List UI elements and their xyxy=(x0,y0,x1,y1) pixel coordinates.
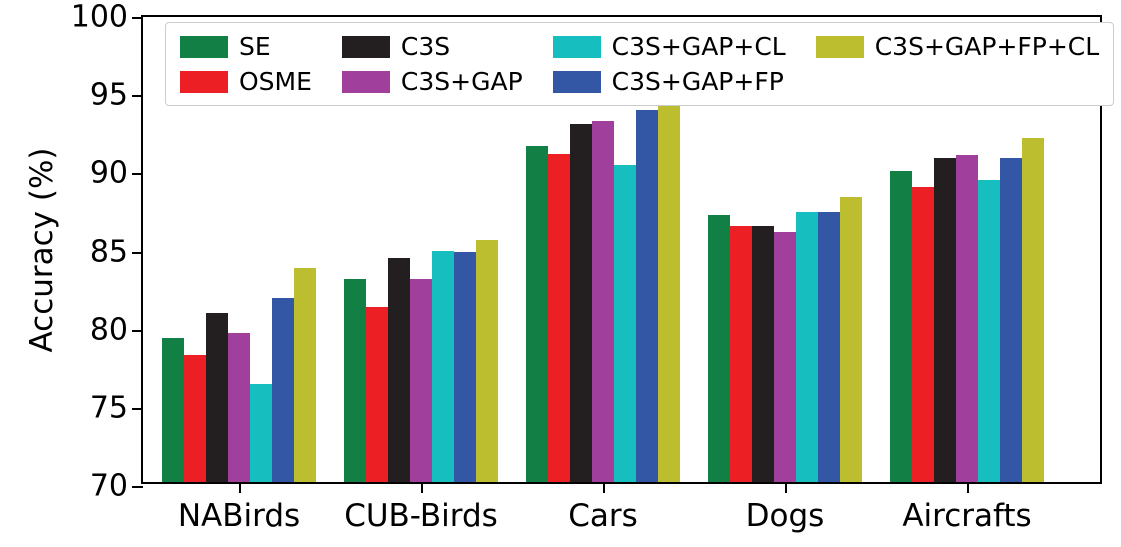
bar xyxy=(476,240,498,482)
x-axis-tick-label: Aircrafts xyxy=(902,498,1031,534)
legend-label: C3S+GAP+FP xyxy=(612,67,784,96)
bar xyxy=(228,333,250,482)
y-axis-tick xyxy=(132,408,143,410)
legend-label: C3S+GAP+CL xyxy=(612,32,786,61)
bar xyxy=(432,251,454,482)
bar xyxy=(774,232,796,482)
y-axis-tick-label: 70 xyxy=(90,469,128,504)
bar xyxy=(752,226,774,482)
bar-chart-figure: Accuracy (%) 707580859095100NABirdsCUB-B… xyxy=(0,0,1121,547)
legend: SEOSMEC3SC3S+GAPC3S+GAP+CLC3S+GAP+FPC3S+… xyxy=(165,22,1114,106)
bar xyxy=(272,298,294,482)
legend-color-swatch xyxy=(180,36,228,58)
bar xyxy=(1000,158,1022,482)
bar xyxy=(956,155,978,482)
x-axis-tick xyxy=(785,482,787,493)
x-axis-tick xyxy=(421,482,423,493)
legend-label: C3S+GAP xyxy=(401,67,523,96)
y-axis-tick-label: 100 xyxy=(71,0,128,35)
bar xyxy=(1022,138,1044,482)
legend-entry: C3S+GAP+FP xyxy=(553,67,786,96)
legend-color-swatch xyxy=(553,71,601,93)
bar xyxy=(454,252,476,482)
bar xyxy=(978,180,1000,482)
x-axis-tick-label: NABirds xyxy=(178,498,300,534)
x-axis-tick xyxy=(603,482,605,493)
legend-entry: C3S+GAP+FP+CL xyxy=(816,32,1099,61)
legend-label: SE xyxy=(239,32,271,61)
bar xyxy=(206,313,228,482)
bar xyxy=(658,97,680,482)
x-axis-tick-label: Cars xyxy=(568,498,638,534)
y-axis-tick xyxy=(132,252,143,254)
y-axis-tick-label: 75 xyxy=(90,390,128,425)
legend-label: C3S+GAP+FP+CL xyxy=(875,32,1099,61)
legend-entry: OSME xyxy=(180,67,312,96)
legend-entry: C3S+GAP+CL xyxy=(553,32,786,61)
legend-entry: C3S+GAP xyxy=(342,67,523,96)
y-axis-tick-label: 85 xyxy=(90,234,128,269)
bar xyxy=(912,187,934,482)
bar xyxy=(548,154,570,482)
bar xyxy=(366,307,388,482)
bar xyxy=(818,212,840,482)
bar xyxy=(410,279,432,482)
x-axis-tick xyxy=(239,482,241,493)
y-axis-tick-label: 95 xyxy=(90,78,128,113)
bar xyxy=(162,338,184,482)
bar xyxy=(592,121,614,482)
y-axis-tick-label: 90 xyxy=(90,156,128,191)
bar xyxy=(796,212,818,482)
y-axis-tick xyxy=(132,95,143,97)
bar xyxy=(730,226,752,482)
bar xyxy=(614,165,636,482)
legend-color-swatch xyxy=(342,36,390,58)
y-axis-tick-label: 80 xyxy=(90,312,128,347)
legend-entry: C3S xyxy=(342,32,523,61)
y-axis-tick xyxy=(132,173,143,175)
bar xyxy=(388,258,410,482)
y-axis-tick xyxy=(132,330,143,332)
legend-color-swatch xyxy=(180,71,228,93)
x-axis-tick xyxy=(967,482,969,493)
bar xyxy=(934,158,956,482)
bar xyxy=(250,384,272,482)
legend-color-swatch xyxy=(342,71,390,93)
bar xyxy=(636,110,658,482)
y-axis-tick xyxy=(132,486,143,488)
legend-color-swatch xyxy=(816,36,864,58)
bar xyxy=(708,215,730,482)
y-axis-tick xyxy=(132,17,143,19)
legend-color-swatch xyxy=(553,36,601,58)
legend-label: C3S xyxy=(401,32,450,61)
bar xyxy=(840,197,862,482)
legend-entry: SE xyxy=(180,32,312,61)
legend-label: OSME xyxy=(239,67,312,96)
x-axis-tick-label: CUB-Birds xyxy=(344,498,498,534)
bar xyxy=(570,124,592,482)
y-axis-title: Accuracy (%) xyxy=(24,60,60,440)
bar xyxy=(184,355,206,482)
x-axis-tick-label: Dogs xyxy=(746,498,825,534)
bar xyxy=(294,268,316,482)
bar xyxy=(890,171,912,482)
bar xyxy=(344,279,366,482)
bar xyxy=(526,146,548,482)
